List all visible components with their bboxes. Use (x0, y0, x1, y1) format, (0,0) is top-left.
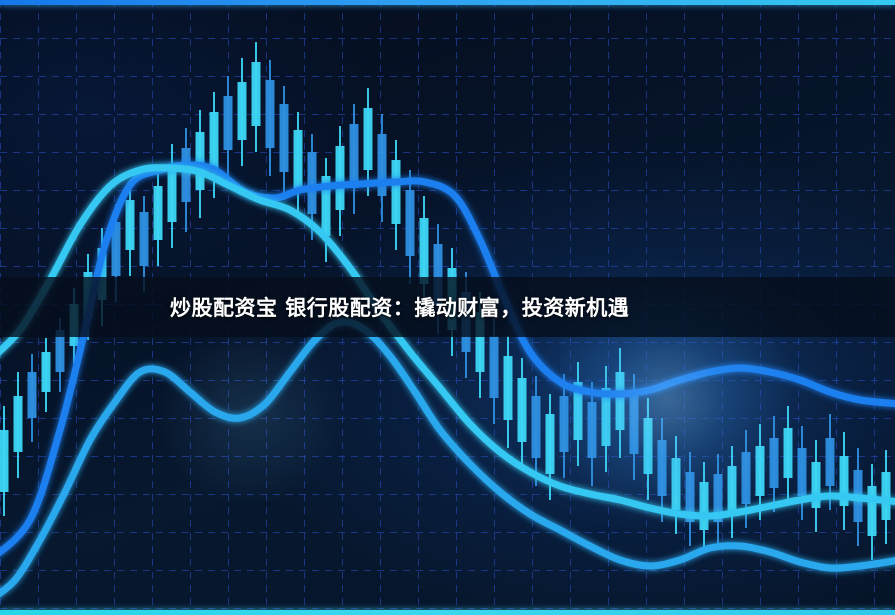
bottom-accent-rule (0, 610, 895, 615)
title-overlay-band: 炒股配资宝 银行股配资：撬动财富，投资新机遇 (0, 277, 895, 337)
banner-title: 炒股配资宝 银行股配资：撬动财富，投资新机遇 (170, 292, 629, 322)
top-accent-rule (0, 0, 895, 5)
trading-chart-banner: 炒股配资宝 银行股配资：撬动财富，投资新机遇 (0, 0, 895, 615)
